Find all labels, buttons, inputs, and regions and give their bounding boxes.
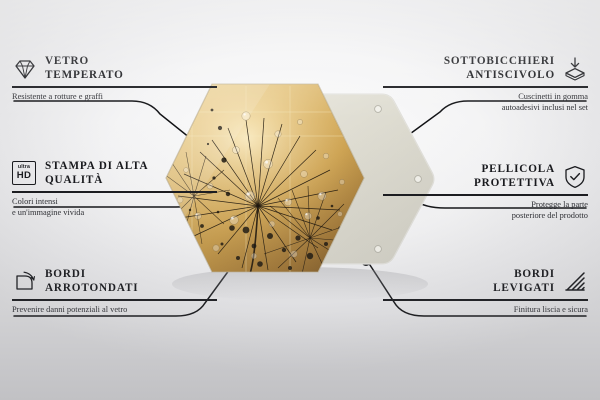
pad-down-arrow-icon (562, 56, 588, 82)
feature-subtitle: Finitura liscia e sicura (383, 304, 588, 315)
feature-title: VETRO TEMPERATO (45, 55, 124, 82)
feature-subtitle: Colori intensi e un'immagine vivida (12, 196, 217, 218)
feature-title: STAMPA DI ALTA QUALITÀ (45, 160, 149, 187)
ultra-hd-badge-icon: ultra HD (12, 161, 38, 187)
feature-title: BORDI LEVIGATI (493, 268, 555, 295)
rounded-corner-icon (12, 269, 38, 295)
feature-stampa-alta-qualita: ultra HD STAMPA DI ALTA QUALITÀ Colori i… (12, 160, 217, 218)
feature-header: ultra HD STAMPA DI ALTA QUALITÀ (12, 160, 217, 187)
feature-subtitle: Protegge la parte posteriore del prodott… (383, 199, 588, 221)
feature-pellicola-protettiva: PELLICOLA PROTETTIVA Protegge la parte p… (383, 163, 588, 221)
feature-divider (383, 86, 588, 88)
infographic-root: VETRO TEMPERATO Resistente a rotture e g… (0, 0, 600, 400)
feature-sottobicchieri-antiscivolo: SOTTOBICCHIERI ANTISCIVOLO Cuscinetti in… (383, 55, 588, 113)
feature-subtitle: Prevenire danni potenziali al vetro (12, 304, 217, 315)
feature-title: PELLICOLA PROTETTIVA (474, 163, 555, 190)
feature-title: BORDI ARROTONDATI (45, 268, 138, 295)
feature-header: PELLICOLA PROTETTIVA (383, 163, 588, 190)
feature-title: SOTTOBICCHIERI ANTISCIVOLO (444, 55, 555, 82)
feature-subtitle: Resistente a rotture e graffi (12, 91, 217, 102)
feature-divider (383, 299, 588, 301)
feature-divider (12, 191, 217, 193)
feature-subtitle: Cuscinetti in gomma autoadesivi inclusi … (383, 91, 588, 113)
feature-bordi-levigati: BORDI LEVIGATI Finitura liscia e sicura (383, 268, 588, 315)
feature-divider (12, 86, 217, 88)
shield-check-icon (562, 164, 588, 190)
hd-label: HD (17, 171, 31, 181)
feature-bordi-arrotondati: BORDI ARROTONDATI Prevenire danni potenz… (12, 268, 217, 315)
feature-header: BORDI LEVIGATI (383, 268, 588, 295)
diamond-icon (12, 56, 38, 82)
feature-vetro-temperato: VETRO TEMPERATO Resistente a rotture e g… (12, 55, 217, 102)
feature-header: BORDI ARROTONDATI (12, 268, 217, 295)
diagonal-lines-icon (562, 269, 588, 295)
feature-divider (12, 299, 217, 301)
feature-divider (383, 194, 588, 196)
feature-header: SOTTOBICCHIERI ANTISCIVOLO (383, 55, 588, 82)
feature-header: VETRO TEMPERATO (12, 55, 217, 82)
